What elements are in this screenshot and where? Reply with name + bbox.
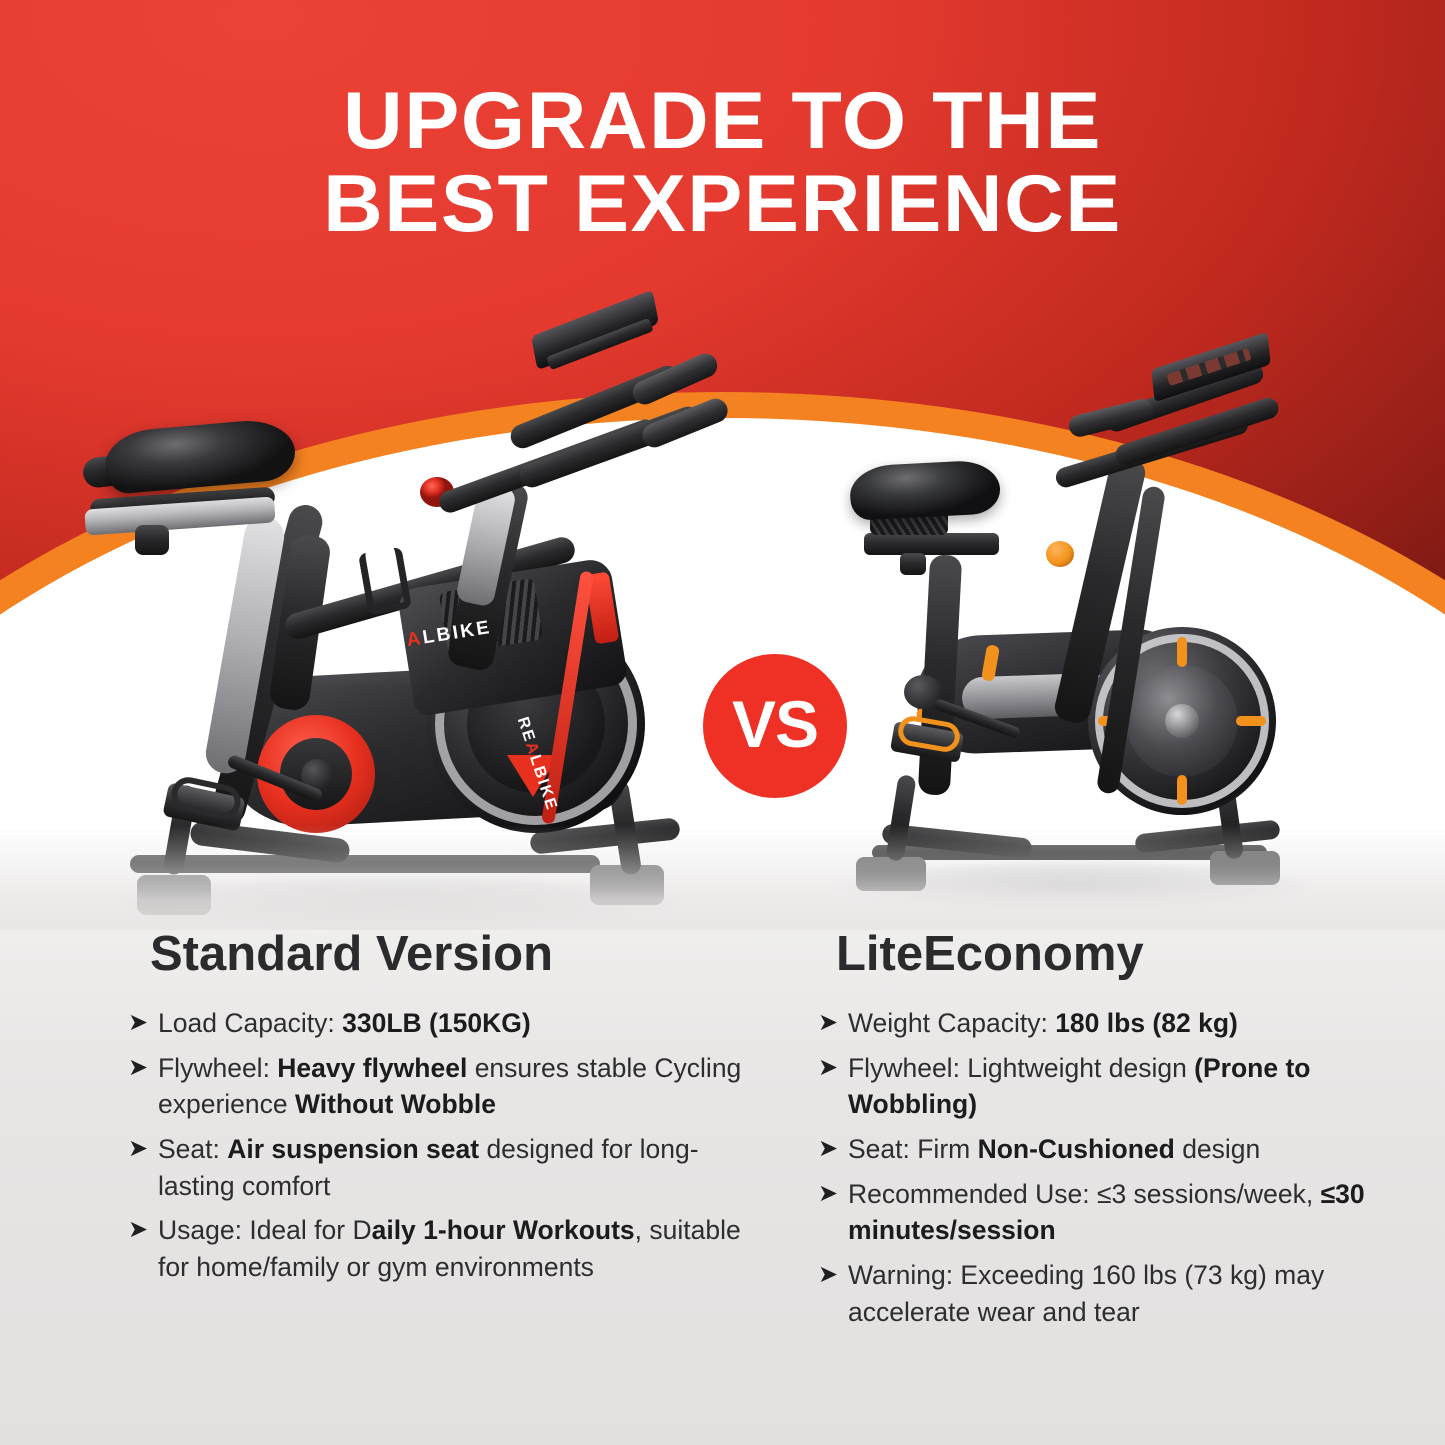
page-headline: UPGRADE TO THE BEST EXPERIENCE xyxy=(0,80,1445,245)
feature-item: ➤Flywheel: Lightweight design (Prone to … xyxy=(818,1050,1438,1123)
feature-item: ➤Load Capacity: 330LB (150KG) xyxy=(128,1005,748,1042)
feature-item: ➤Recommended Use: ≤3 sessions/week, ≤30 … xyxy=(818,1176,1438,1249)
feature-item: ➤Flywheel: Heavy flywheel ensures stable… xyxy=(128,1050,748,1123)
hero-banner: UPGRADE TO THE BEST EXPERIENCE xyxy=(0,0,1445,945)
feature-text: Load Capacity: xyxy=(158,1008,342,1038)
lite-flywheel-tick-top xyxy=(1177,637,1187,667)
bullet-arrow-icon: ➤ xyxy=(128,1006,148,1040)
feature-text: Seat: Firm xyxy=(848,1134,978,1164)
feature-text: Recommended Use: ≤3 sessions/week, xyxy=(848,1179,1321,1209)
bike-bottle-cage xyxy=(358,547,412,616)
bullet-arrow-icon: ➤ xyxy=(818,1132,838,1166)
bullet-arrow-icon: ➤ xyxy=(128,1213,148,1247)
lite-orange-knob xyxy=(1046,541,1074,567)
feature-text: Usage: Ideal for D xyxy=(158,1215,372,1245)
lite-flywheel-tick-bottom xyxy=(1177,775,1187,805)
feature-list-lite: ➤Weight Capacity: 180 lbs (82 kg)➤Flywhe… xyxy=(818,1005,1438,1331)
feature-text-emphasis: Non-Cushioned xyxy=(978,1134,1175,1164)
feature-text-emphasis: Without Wobble xyxy=(295,1089,496,1119)
bullet-arrow-icon: ➤ xyxy=(818,1051,838,1085)
lite-flywheel-hub xyxy=(1165,704,1199,738)
spec-column-lite: LiteEconomy ➤Weight Capacity: 180 lbs (8… xyxy=(818,930,1438,1339)
lite-seat-knob xyxy=(900,553,926,575)
lite-handlebar-grip xyxy=(1067,397,1156,439)
bullet-arrow-icon: ➤ xyxy=(818,1006,838,1040)
bullet-arrow-icon: ➤ xyxy=(818,1177,838,1211)
feature-list-standard: ➤Load Capacity: 330LB (150KG)➤Flywheel: … xyxy=(128,1005,748,1286)
lite-seat-rail xyxy=(864,533,999,555)
bike-handlebar-grip-upper xyxy=(629,350,721,409)
feature-item: ➤Warning: Exceeding 160 lbs (73 kg) may … xyxy=(818,1257,1438,1330)
feature-text: Flywheel: xyxy=(158,1053,277,1083)
feature-text-emphasis: 330LB (150KG) xyxy=(342,1008,531,1038)
bullet-arrow-icon: ➤ xyxy=(128,1051,148,1085)
feature-text: design xyxy=(1175,1134,1260,1164)
bullet-arrow-icon: ➤ xyxy=(818,1258,838,1292)
feature-text: Weight Capacity: xyxy=(848,1008,1055,1038)
feature-text-emphasis: aily 1-hour Workouts xyxy=(372,1215,635,1245)
feature-text-emphasis: Air suspension seat xyxy=(227,1134,479,1164)
headline-line-1: UPGRADE TO THE xyxy=(0,80,1445,163)
brand-part-1: RE xyxy=(374,630,408,656)
feature-text: Flywheel: Lightweight design xyxy=(848,1053,1194,1083)
bike-saddle xyxy=(103,417,298,495)
lite-saddle xyxy=(849,459,1002,521)
spec-column-standard: Standard Version ➤Load Capacity: 330LB (… xyxy=(128,930,748,1294)
vs-badge: VS xyxy=(703,654,847,798)
feature-item: ➤Seat: Firm Non-Cushioned design xyxy=(818,1131,1438,1168)
product-title-lite: LiteEconomy xyxy=(818,930,1438,979)
lite-flywheel-tick-right xyxy=(1236,716,1266,726)
bullet-arrow-icon: ➤ xyxy=(128,1132,148,1166)
feature-text: Seat: xyxy=(158,1134,227,1164)
feature-text-emphasis: Heavy flywheel xyxy=(277,1053,467,1083)
feature-item: ➤Seat: Air suspension seat designed for … xyxy=(128,1131,748,1204)
product-comparison-page: UPGRADE TO THE BEST EXPERIENCE xyxy=(0,0,1445,1445)
feature-item: ➤Weight Capacity: 180 lbs (82 kg) xyxy=(818,1005,1438,1042)
specification-section: Standard Version ➤Load Capacity: 330LB (… xyxy=(0,930,1445,1445)
feature-item: ➤Usage: Ideal for Daily 1-hour Workouts,… xyxy=(128,1212,748,1285)
feature-text: Warning: Exceeding 160 lbs (73 kg) may a… xyxy=(848,1260,1324,1327)
feature-text-emphasis: 180 lbs (82 kg) xyxy=(1055,1008,1238,1038)
vs-badge-label: VS xyxy=(732,686,818,762)
product-title-standard: Standard Version xyxy=(128,930,748,979)
headline-line-2: BEST EXPERIENCE xyxy=(0,163,1445,246)
bike-seat-adjust-knob xyxy=(135,525,169,555)
